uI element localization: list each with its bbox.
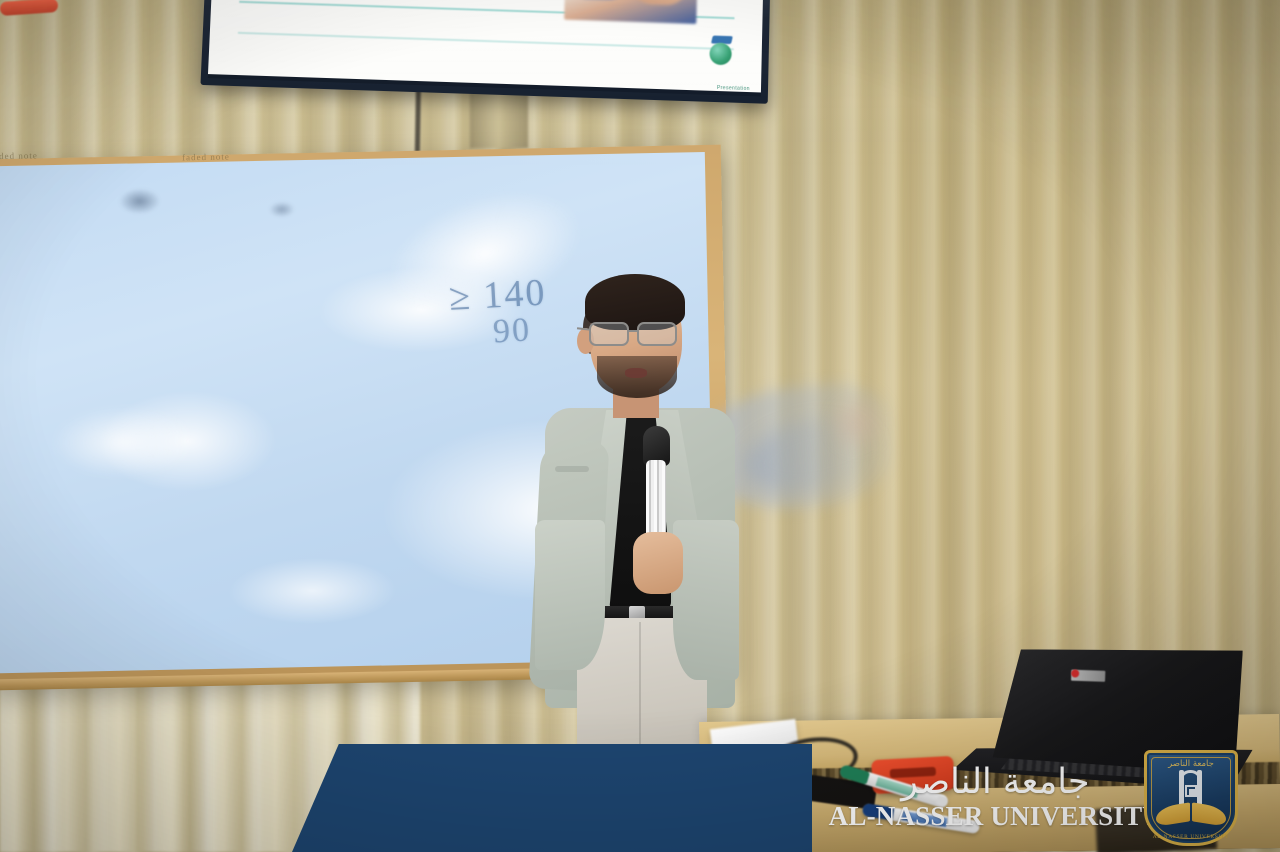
university-crest-logo: جامعة الناصر AL-NASSER UNIVERSITY — [1144, 750, 1238, 846]
whiteboard-top-note-left: faded note — [0, 150, 38, 161]
crest-arabic-label: جامعة الناصر — [1144, 759, 1238, 769]
whiteboard-smudge-1 — [118, 188, 161, 215]
banner-english-name: AL-NASSER UNIVERSITY — [829, 803, 1162, 830]
speaker-glasses — [587, 322, 683, 346]
speaker-hand-blur — [827, 392, 887, 454]
banner-content: جامعة الناصر AL-NASSER UNIVERSITY — [0, 742, 1280, 852]
jacket-front-right — [673, 520, 739, 680]
crest-book-page-left — [1156, 802, 1190, 826]
glasses-bridge — [629, 330, 639, 332]
jacket-chest-pocket — [555, 466, 589, 472]
speaker-hand-holding-mic — [633, 532, 683, 594]
crest-book-page-right — [1192, 802, 1226, 826]
whiteboard-glare-2 — [51, 406, 196, 480]
photo-scene: Presentation ≥ 140 90 faded note faded n… — [0, 0, 1280, 852]
jacket-front-left — [535, 520, 605, 670]
speaker-mouth — [625, 368, 647, 378]
banner-arabic-name: جامعة الناصر — [901, 765, 1089, 800]
glasses-lens-left — [589, 322, 629, 346]
banner-wordmark: جامعة الناصر AL-NASSER UNIVERSITY — [829, 765, 1162, 830]
university-banner: جامعة الناصر AL-NASSER UNIVERSITY جامعة … — [0, 742, 1280, 852]
crest-square-icon — [1185, 785, 1197, 797]
crest-motto-text: AL-NASSER UNIVERSITY — [1144, 834, 1238, 840]
whiteboard-top-note-center: faded note — [182, 151, 230, 162]
whiteboard-smudge-2 — [269, 201, 295, 218]
glasses-lens-right — [637, 322, 677, 346]
crest-open-book-icon — [1156, 804, 1226, 824]
laptop-logo-dot — [1071, 669, 1079, 677]
tv-wall-mount — [470, 88, 528, 148]
